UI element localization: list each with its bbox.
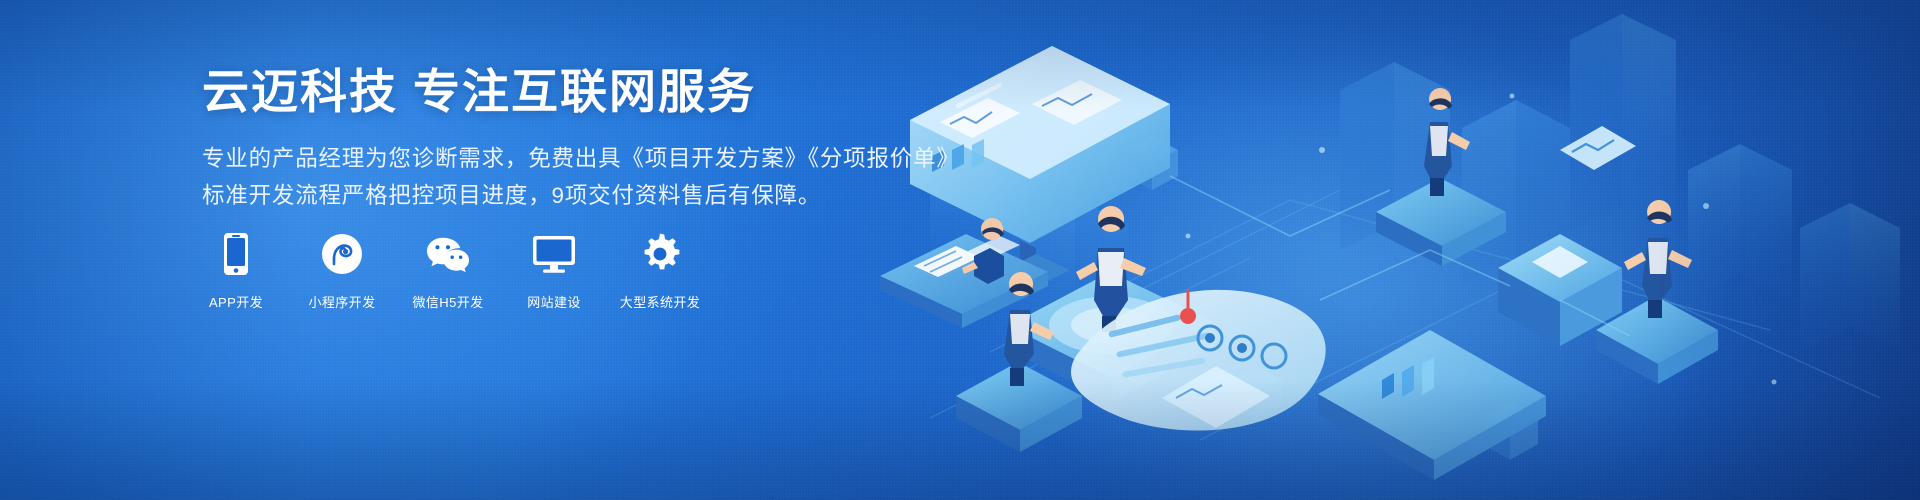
- page-title: 云迈科技 专注互联网服务: [202, 64, 962, 119]
- mobile-phone-icon: [214, 232, 258, 276]
- service-label: 小程序开发: [308, 292, 375, 311]
- service-item-wechat-h5[interactable]: 微信H5开发: [412, 232, 484, 311]
- service-label: APP开发: [209, 292, 263, 311]
- service-item-mini-program[interactable]: 小程序开发: [306, 232, 378, 311]
- promo-banner: 云迈科技 专注互联网服务 专业的产品经理为您诊断需求，免费出具《项目开发方案》《…: [0, 0, 1920, 500]
- monitor-icon: [532, 232, 576, 276]
- wechat-icon: [426, 232, 470, 276]
- banner-copy: 云迈科技 专注互联网服务 专业的产品经理为您诊断需求，免费出具《项目开发方案》《…: [202, 64, 962, 214]
- service-label: 微信H5开发: [412, 292, 483, 311]
- service-item-large-system[interactable]: 大型系统开发: [624, 232, 696, 311]
- service-label: 网站建设: [527, 292, 581, 311]
- mini-program-icon: [320, 232, 364, 276]
- banner-subtitle: 专业的产品经理为您诊断需求，免费出具《项目开发方案》《分项报价单》 标准开发流程…: [202, 141, 962, 214]
- service-item-app[interactable]: APP开发: [200, 232, 272, 311]
- service-list: APP开发 小程序开发: [200, 232, 696, 311]
- service-item-website[interactable]: 网站建设: [518, 232, 590, 311]
- gear-icon: [638, 232, 682, 276]
- illustration: [870, 0, 1920, 500]
- service-label: 大型系统开发: [620, 292, 700, 311]
- subtitle-line-2: 标准开发流程严格把控项目进度，9项交付资料售后有保障。: [202, 178, 962, 214]
- subtitle-line-1: 专业的产品经理为您诊断需求，免费出具《项目开发方案》《分项报价单》: [202, 141, 962, 177]
